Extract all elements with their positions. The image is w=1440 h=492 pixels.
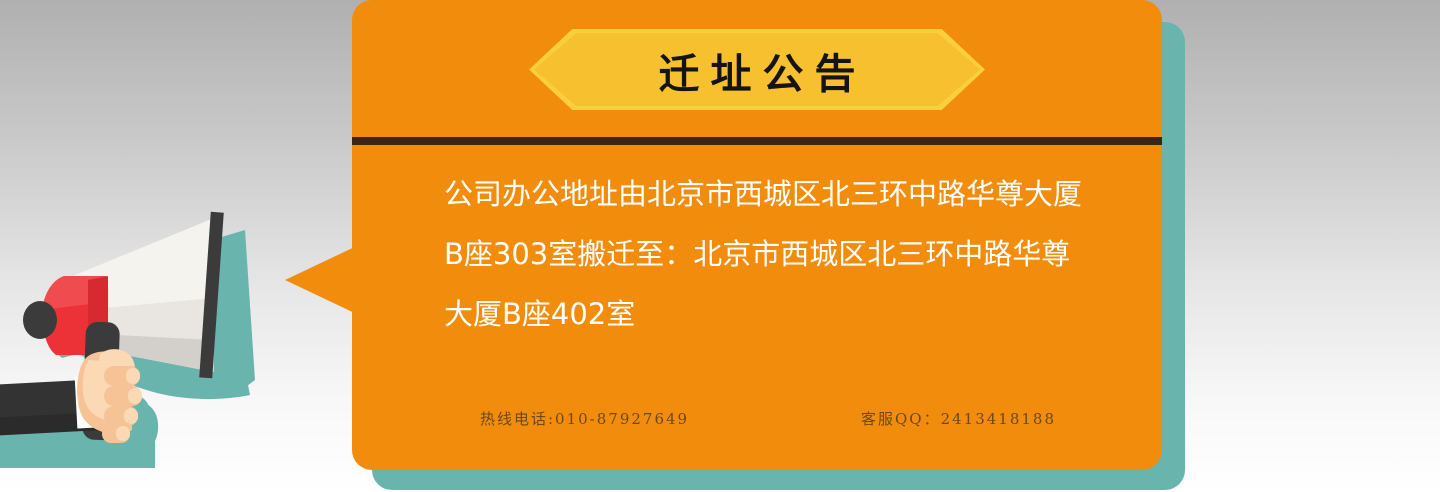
hotline-text: 热线电话:010-87927649: [480, 408, 689, 429]
hand-holding-megaphone-illustration: [0, 190, 300, 492]
page-title: 迁址公告: [534, 33, 980, 106]
title-divider: [352, 137, 1162, 145]
announcement-banner: 迁址公告 公司办公地址由北京市西城区北三环中路华尊大厦B座303室搬迁至：北京市…: [0, 0, 1440, 492]
qq-text: 客服QQ：2413418188: [861, 408, 1056, 429]
announcement-body: 公司办公地址由北京市西城区北三环中路华尊大厦B座303室搬迁至：北京市西城区北三…: [444, 164, 1092, 344]
contact-row: 热线电话:010-87927649 客服QQ：2413418188: [444, 408, 1094, 429]
title-ribbon: 迁址公告: [534, 33, 980, 106]
